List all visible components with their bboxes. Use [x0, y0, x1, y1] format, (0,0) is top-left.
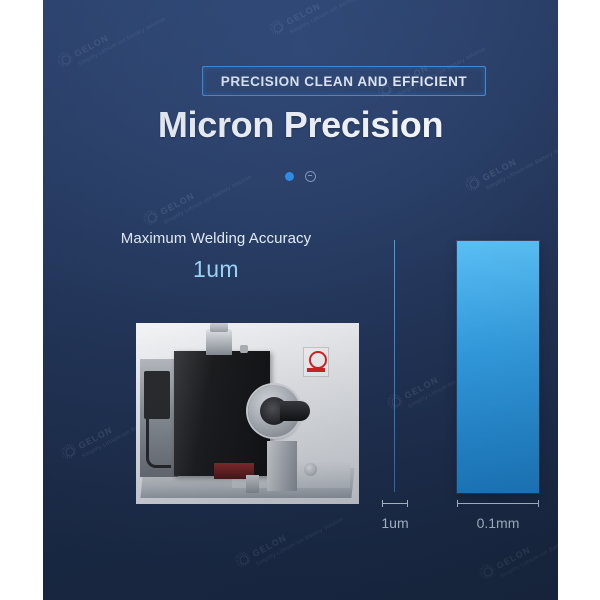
sunburst-logo-icon [267, 17, 287, 37]
dimension-line-icon [457, 500, 539, 507]
machine-top-cap [210, 323, 228, 332]
sunburst-logo-icon [55, 49, 75, 69]
watermark-brand: GELON [495, 544, 532, 570]
watermark: GELON Simplify Lithium-ion Battery solut… [233, 502, 345, 576]
eyebrow-text: PRECISION CLEAN AND EFFICIENT [221, 74, 467, 89]
watermark-tagline: Simplify Lithium-ion Battery solution [240, 516, 345, 575]
machine-stud [240, 345, 248, 353]
sunburst-logo-icon [233, 549, 253, 569]
watermark-brand: GELON [403, 374, 440, 400]
scale-reference-line [394, 240, 395, 492]
machine-top-cylinder [206, 329, 232, 355]
machine-cable [146, 419, 171, 468]
comparison-small-label: 1um [361, 515, 429, 531]
machine-fixture [267, 441, 297, 491]
watermark-tagline: Simplify Lithium-ion Battery solution [62, 16, 167, 75]
watermark-brand: GELON [77, 424, 114, 450]
sunburst-logo-icon [477, 561, 497, 581]
carousel-dot-inactive[interactable] [305, 171, 316, 182]
spec-value: 1um [96, 256, 336, 283]
watermark-tagline: Simplify Lithium-ion Battery solution [148, 174, 253, 233]
eyebrow-badge: PRECISION CLEAN AND EFFICIENT [202, 66, 486, 96]
spec-label: Maximum Welding Accuracy [96, 230, 336, 247]
sunburst-logo-icon [141, 207, 161, 227]
watermark: GELON Simplify Lithium-ion Battery solut… [267, 0, 379, 44]
watermark-brand: GELON [251, 532, 288, 558]
banner-canvas: GELON Simplify Lithium-ion Battery solut… [0, 0, 600, 600]
comparison-large-bar [457, 241, 539, 493]
banner-panel: GELON Simplify Lithium-ion Battery solut… [43, 0, 558, 600]
product-photo [136, 323, 359, 504]
dimension-line-icon [382, 500, 408, 507]
watermark-brand: GELON [159, 190, 196, 216]
machine-small-part [246, 475, 259, 493]
warning-sticker [303, 347, 329, 377]
page-title: Micron Precision [43, 104, 558, 146]
watermark-tagline: Simplify Lithium-ion Battery solution [484, 528, 558, 587]
watermark-brand: GELON [73, 32, 110, 58]
machine-welding-horn [280, 401, 310, 421]
sunburst-logo-icon [59, 441, 79, 461]
machine-bolt [304, 463, 317, 476]
watermark: GELON Simplify Lithium-ion Battery solut… [55, 2, 167, 76]
comparison-large-label: 0.1mm [457, 515, 539, 531]
watermark-brand: GELON [285, 0, 322, 26]
carousel-dots[interactable] [43, 171, 558, 182]
watermark-tagline: Simplify Lithium-ion Battery solution [274, 0, 379, 44]
carousel-dot-active[interactable] [285, 172, 294, 181]
machine-side-module [144, 371, 170, 419]
